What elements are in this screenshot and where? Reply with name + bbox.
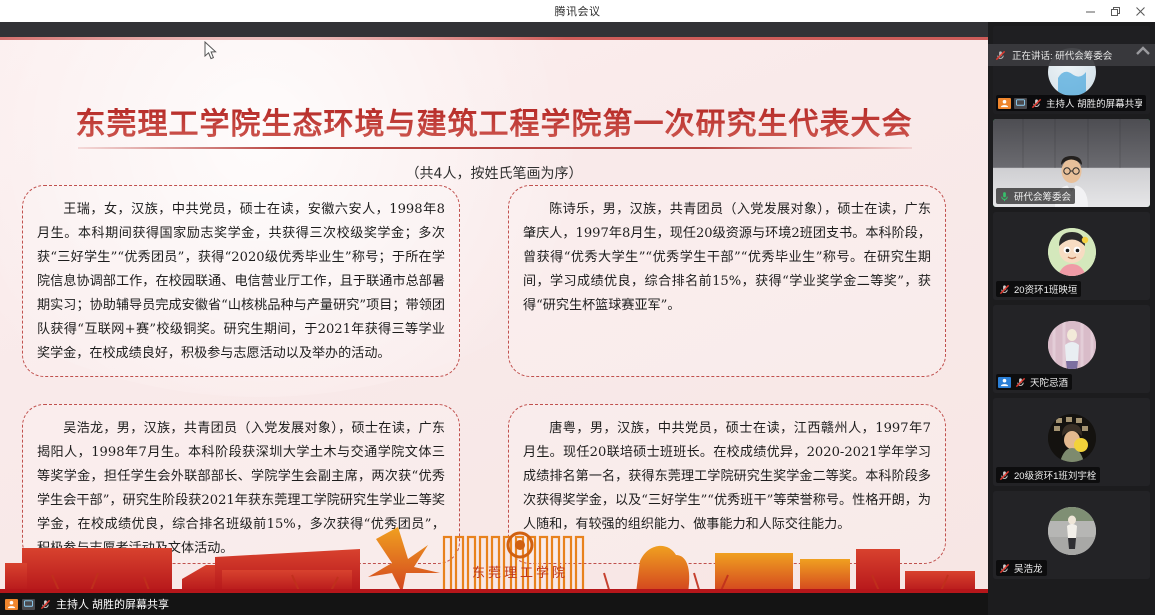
status-bar-text: 主持人 胡胜的屏幕共享 bbox=[56, 596, 169, 612]
mic-active-icon bbox=[998, 191, 1011, 202]
speaking-banner-text: 正在讲话: 研代会筹委会 bbox=[1012, 48, 1112, 62]
mic-muted-icon bbox=[998, 470, 1011, 481]
tile-label: 20资环1班映垣 bbox=[996, 281, 1081, 297]
screen-share-icon bbox=[22, 599, 35, 610]
participant-tile[interactable]: 20资环1班映垣 bbox=[993, 212, 1150, 300]
tile-label: 研代会筹委会 bbox=[996, 188, 1075, 204]
participant-tile-active-speaker[interactable]: 研代会筹委会 bbox=[993, 119, 1150, 207]
speaking-now-banner: 正在讲话: 研代会筹委会 bbox=[988, 44, 1155, 66]
avatar bbox=[1048, 507, 1096, 555]
bio-card-text: 陈诗乐，男，汉族，共青团员（入党发展对象），硕士在读，广东肇庆人，1997年8月… bbox=[523, 198, 931, 318]
mic-muted-icon bbox=[994, 50, 1007, 61]
slide-subtitle: （共4人，按姓氏笔画为序） bbox=[0, 163, 988, 183]
screen-share-status-bar: 主持人 胡胜的屏幕共享 bbox=[0, 593, 988, 615]
tile-label-text: 20资环1班映垣 bbox=[1014, 282, 1077, 296]
mic-muted-icon bbox=[998, 284, 1011, 295]
avatar bbox=[1048, 228, 1096, 276]
window-controls bbox=[1078, 0, 1153, 22]
title-bar: 腾讯会议 bbox=[0, 0, 1155, 22]
mic-muted-icon bbox=[1030, 98, 1043, 109]
minimize-button[interactable] bbox=[1078, 0, 1103, 22]
tile-label-text: 吴浩龙 bbox=[1014, 561, 1043, 575]
bio-card-text: 王瑞，女，汉族，中共党员，硕士在读，安徽六安人，1998年8月生。本科期间获得国… bbox=[37, 198, 445, 366]
tile-label: 20级资环1班刘宇栓 bbox=[996, 467, 1100, 483]
tile-label: 吴浩龙 bbox=[996, 560, 1047, 576]
meeting-body: 东莞理工学院生态环境与建筑工程学院第一次研究生代表大会 （共4人，按姓氏笔画为序… bbox=[0, 22, 1155, 615]
person-blue-icon bbox=[998, 377, 1011, 388]
bio-card: 王瑞，女，汉族，中共党员，硕士在读，安徽六安人，1998年8月生。本科期间获得国… bbox=[22, 185, 460, 377]
shared-screen-area[interactable]: 东莞理工学院生态环境与建筑工程学院第一次研究生代表大会 （共4人，按姓氏笔画为序… bbox=[0, 22, 988, 593]
close-button[interactable] bbox=[1128, 0, 1153, 22]
tile-label: 天陀忌酒 bbox=[996, 374, 1072, 390]
participant-tile-screenshare[interactable]: 主持人 胡胜的屏幕共享 bbox=[993, 26, 1150, 114]
slide-title: 东莞理工学院生态环境与建筑工程学院第一次研究生代表大会 bbox=[0, 99, 988, 143]
person-orange-icon bbox=[5, 599, 18, 610]
skyline-logo-text: 东莞理工学院 bbox=[472, 565, 568, 581]
person-orange-icon bbox=[998, 98, 1011, 109]
tile-label-text: 天陀忌酒 bbox=[1030, 375, 1068, 389]
avatar bbox=[1048, 414, 1096, 462]
participant-tile[interactable]: 20级资环1班刘宇栓 bbox=[993, 398, 1150, 486]
participant-sidebar: 主持人 胡胜的屏幕共享 正在讲话: 研代会筹委会 bbox=[988, 22, 1155, 615]
mouse-cursor bbox=[204, 41, 218, 61]
tile-label-text: 20级资环1班刘宇栓 bbox=[1014, 468, 1096, 482]
tile-label: 主持人 胡胜的屏幕共享 bbox=[996, 95, 1146, 111]
bio-card: 陈诗乐，男，汉族，共青团员（入党发展对象），硕士在读，广东肇庆人，1997年8月… bbox=[508, 185, 946, 377]
tile-label-text: 主持人 胡胜的屏幕共享 bbox=[1046, 96, 1142, 110]
mic-muted-icon bbox=[39, 599, 52, 610]
avatar bbox=[1048, 321, 1096, 369]
tencent-meeting-window: 腾讯会议 bbox=[0, 0, 1155, 615]
participant-tile[interactable]: 天陀忌酒 bbox=[993, 305, 1150, 393]
screen-share-icon bbox=[1014, 98, 1027, 109]
campus-skyline-graphic: 东莞理工学院 bbox=[0, 515, 988, 593]
app-title: 腾讯会议 bbox=[555, 3, 601, 19]
title-underline bbox=[78, 147, 912, 149]
participant-tile[interactable]: 吴浩龙 bbox=[993, 491, 1150, 579]
chevron-up-icon[interactable] bbox=[1135, 45, 1151, 59]
mic-muted-icon bbox=[1014, 377, 1027, 388]
tile-label-text: 研代会筹委会 bbox=[1014, 189, 1071, 203]
presentation-slide: 东莞理工学院生态环境与建筑工程学院第一次研究生代表大会 （共4人，按姓氏笔画为序… bbox=[0, 37, 988, 593]
mic-muted-icon bbox=[998, 563, 1011, 574]
restore-button[interactable] bbox=[1103, 0, 1128, 22]
share-top-strip bbox=[0, 22, 988, 37]
